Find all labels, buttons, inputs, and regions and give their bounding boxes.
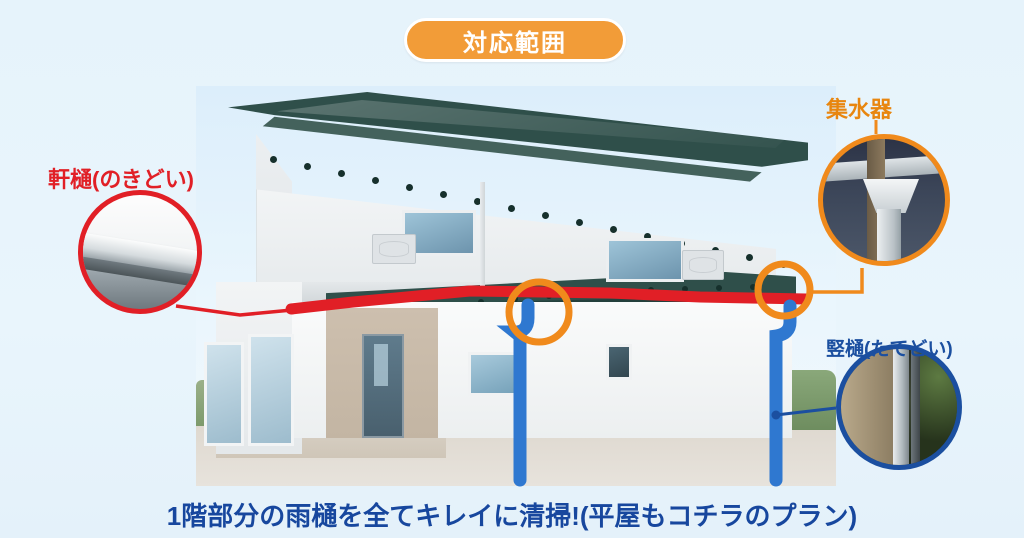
collector-pipe	[877, 209, 901, 266]
downpipe-wall	[841, 349, 893, 470]
collector-gutter	[823, 154, 950, 181]
eaves-gutter-closeup	[78, 190, 202, 314]
bottom-caption: 1階部分の雨樋を全てキレイに清掃!(平屋もコチラのプラン)	[0, 496, 1024, 533]
eaves-gutter-leader	[176, 306, 292, 315]
collector-leader	[810, 268, 862, 292]
downpipe-pipe	[893, 349, 909, 470]
label-eaves-gutter: 軒樋(のきどい)	[48, 162, 194, 194]
downpipe-leader-dot	[772, 411, 781, 420]
water-collector-closeup	[818, 134, 950, 266]
downpipe-closeup	[836, 344, 962, 470]
label-water-collector: 集水器	[826, 92, 892, 124]
eaves-gutter-leader-dot	[288, 306, 297, 315]
eaves-gutter-highlight	[291, 291, 806, 309]
downpipe-highlight-right	[776, 306, 790, 480]
label-downpipe: 竪樋(たてどい)	[826, 334, 953, 361]
downpipe-leader	[776, 408, 836, 415]
downpipe-pipe-shadow	[911, 349, 920, 470]
diagram-canvas: two-story house exterior with dark green…	[0, 0, 1024, 538]
